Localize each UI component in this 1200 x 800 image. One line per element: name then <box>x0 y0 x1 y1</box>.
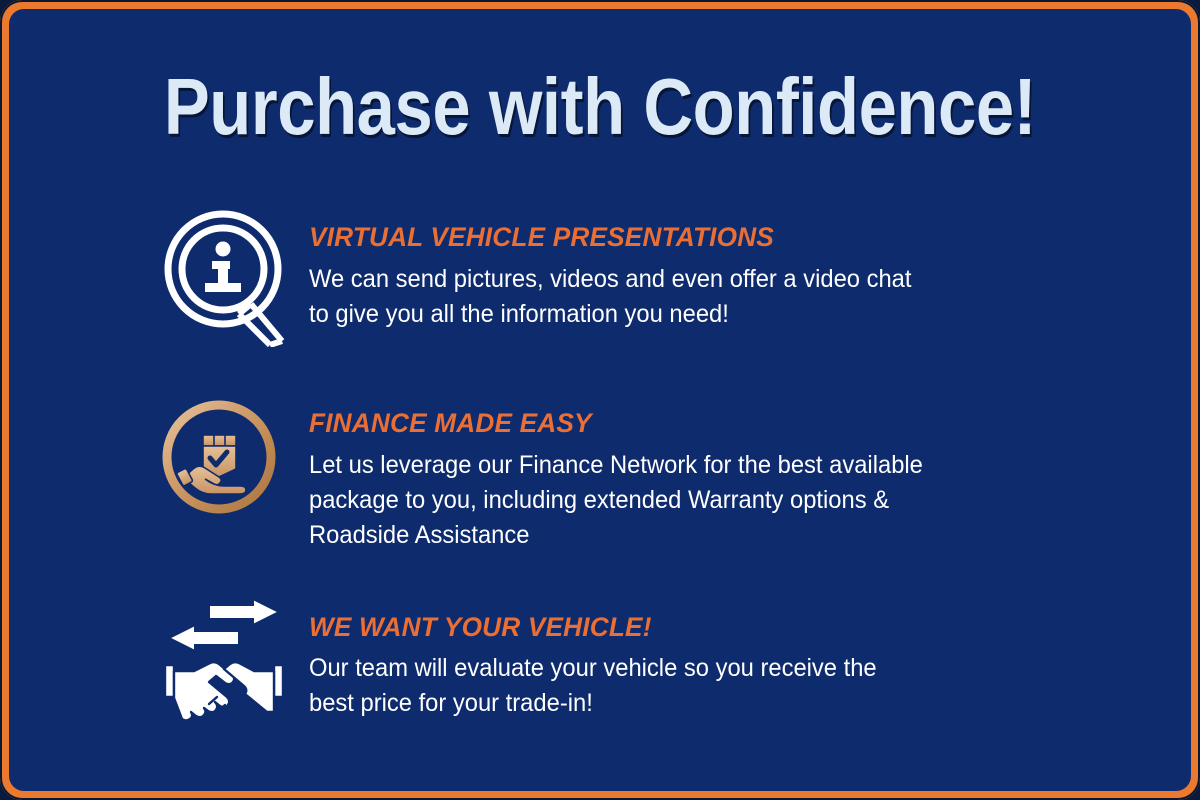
text-cell: VIRTUAL VEHICLE PRESENTATIONS We can sen… <box>309 205 1131 332</box>
feature-body-line: Our team will evaluate your vehicle so y… <box>309 651 1090 686</box>
feature-body-line: best price for your trade-in! <box>309 686 1090 721</box>
icon-cell <box>157 391 309 519</box>
feature-item-we-want-your-vehicle: WE WANT YOUR VEHICLE! Our team will eval… <box>157 595 1131 725</box>
page-title: Purchase with Confidence! <box>92 67 1109 147</box>
feature-body-line: Roadside Assistance <box>309 518 1090 553</box>
magnifying-glass-info-icon <box>157 209 289 347</box>
feature-item-virtual-presentations: VIRTUAL VEHICLE PRESENTATIONS We can sen… <box>157 205 1131 347</box>
feature-list: VIRTUAL VEHICLE PRESENTATIONS We can sen… <box>157 205 1131 725</box>
hand-holding-package-check-icon <box>157 395 281 519</box>
feature-item-finance-made-easy: FINANCE MADE EASY Let us leverage our Fi… <box>157 391 1131 553</box>
icon-cell <box>157 205 309 347</box>
feature-body-line: package to you, including extended Warra… <box>309 483 1090 518</box>
banner-panel: Purchase with Confidence! <box>9 9 1191 791</box>
feature-body-line: We can send pictures, videos and even of… <box>309 262 1090 297</box>
feature-heading: VIRTUAL VEHICLE PRESENTATIONS <box>309 223 1106 253</box>
text-cell: FINANCE MADE EASY Let us leverage our Fi… <box>309 391 1131 553</box>
feature-body: We can send pictures, videos and even of… <box>309 262 1090 332</box>
feature-heading: WE WANT YOUR VEHICLE! <box>309 613 1106 643</box>
feature-body-line: to give you all the information you need… <box>309 297 1090 332</box>
text-cell: WE WANT YOUR VEHICLE! Our team will eval… <box>309 595 1131 722</box>
feature-body: Our team will evaluate your vehicle so y… <box>309 651 1090 721</box>
promo-banner: Purchase with Confidence! <box>0 0 1200 800</box>
exchange-arrows-handshake-icon <box>157 599 291 725</box>
feature-heading: FINANCE MADE EASY <box>309 409 1106 439</box>
icon-cell <box>157 595 309 725</box>
feature-body: Let us leverage our Finance Network for … <box>309 448 1090 553</box>
feature-body-line: Let us leverage our Finance Network for … <box>309 448 1090 483</box>
